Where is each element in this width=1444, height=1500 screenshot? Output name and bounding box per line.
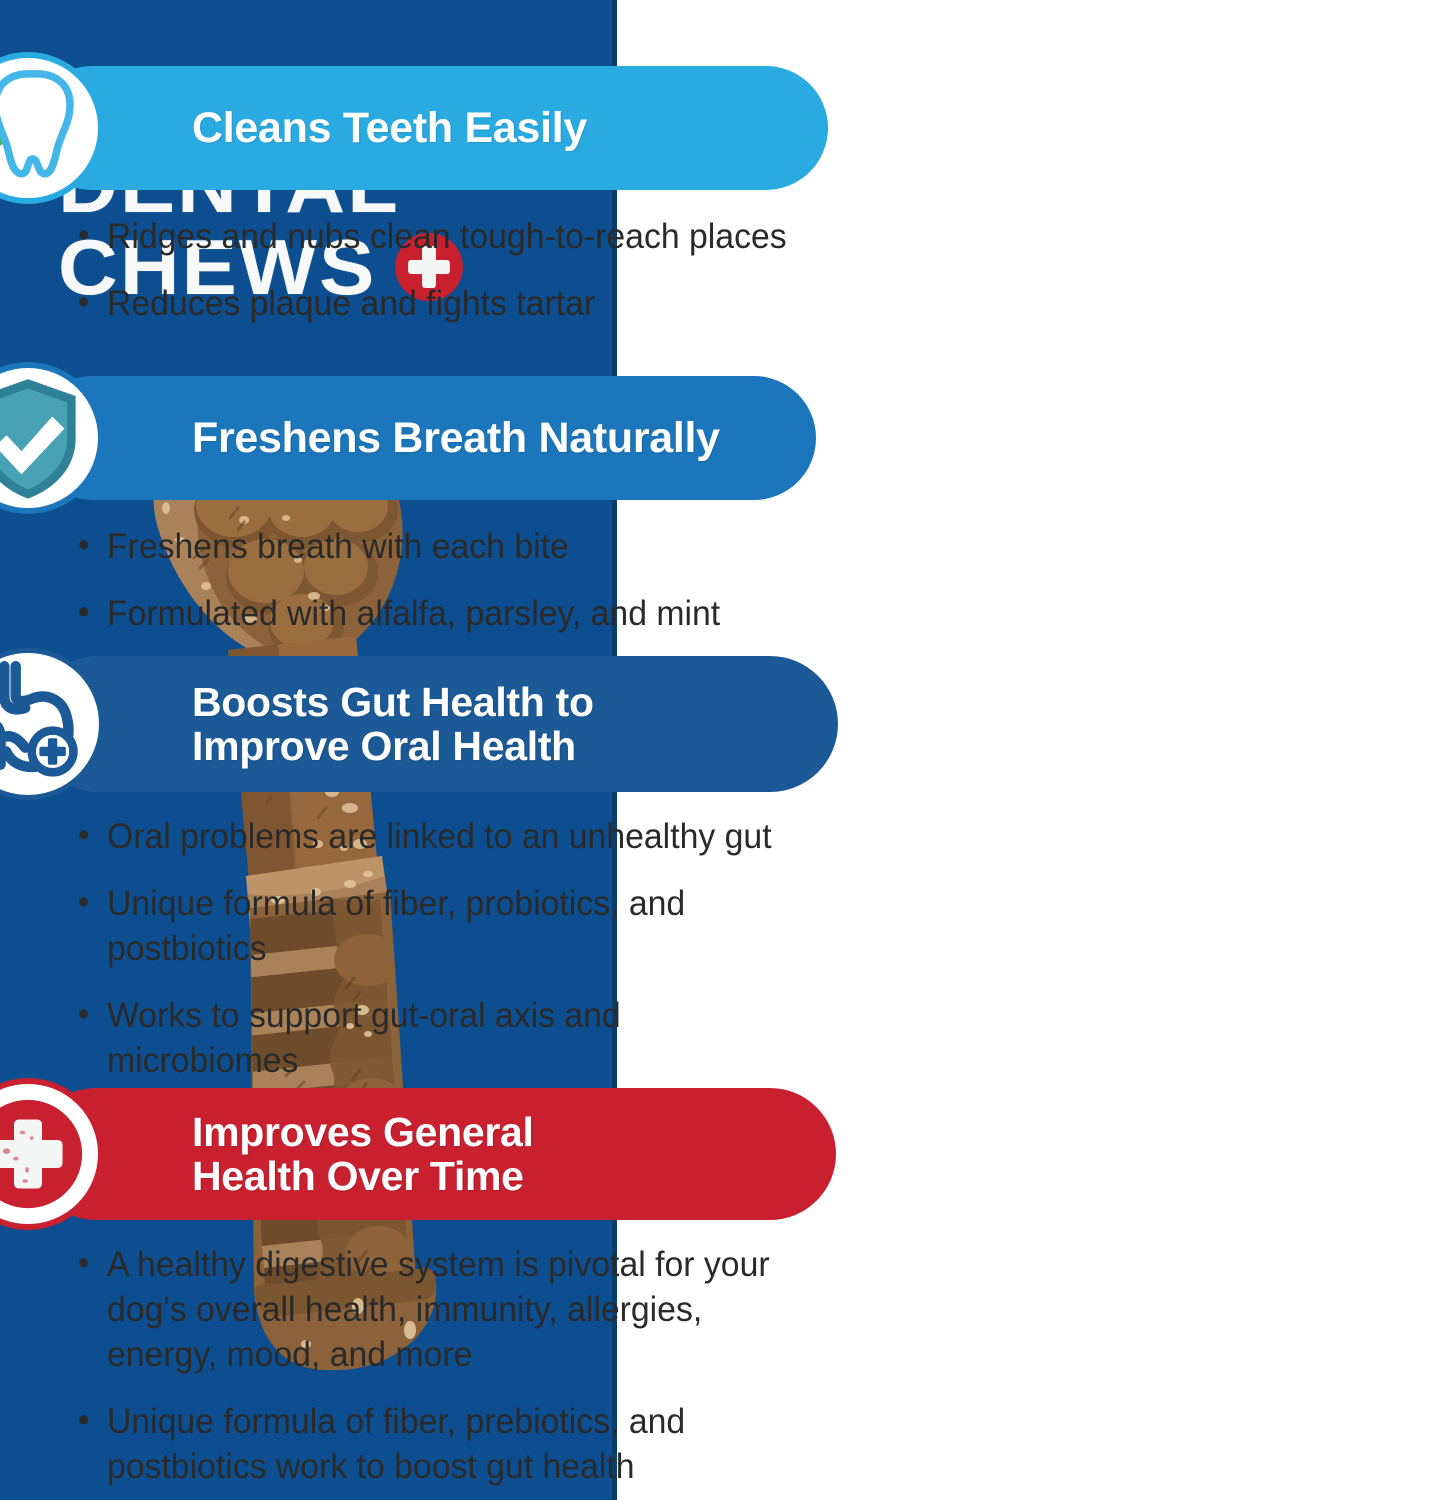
section-banner: Improves General Health Over Time (30, 1088, 836, 1220)
section-freshens-breath: Freshens Breath Naturally Freshens breat… (0, 376, 827, 656)
banner-title-line-1: Improves General (192, 1110, 534, 1154)
section-cleans-teeth: Cleans Teeth Easily Ridges and nubs clea… (0, 66, 827, 356)
section-improves-general-health: Improves General Health Over Time A heal… (0, 1088, 827, 1498)
banner-title-line-2: Health Over Time (192, 1154, 534, 1198)
bullet-list: A healthy digestive system is pivotal fo… (78, 1242, 838, 1500)
stomach-plus-icon (0, 648, 104, 800)
list-item: Freshens breath with each bite (78, 524, 811, 569)
bullet-list: Oral problems are linked to an unhealthy… (78, 814, 838, 1105)
infographic-page: DAILY DENTAL CHEWS (0, 0, 1444, 1500)
shield-check-icon (0, 362, 104, 514)
list-item: Reduces plaque and fights tartar (78, 281, 811, 326)
list-item: Ridges and nubs clean tough-to-reach pla… (78, 214, 811, 259)
bullet-list: Freshens breath with each bite Formulate… (78, 524, 838, 658)
list-item: Unique formula of fiber, prebiotics, and… (78, 1399, 811, 1489)
list-item: Works to support gut-oral axis and micro… (78, 993, 811, 1083)
medical-cross-circle-icon (0, 1078, 104, 1230)
banner-title: Boosts Gut Health to Improve Oral Health (192, 680, 594, 768)
banner-title: Cleans Teeth Easily (192, 105, 587, 151)
tooth-mint-leaf-icon (0, 52, 104, 204)
list-item: A healthy digestive system is pivotal fo… (78, 1242, 811, 1377)
section-banner: Boosts Gut Health to Improve Oral Health (30, 656, 838, 792)
banner-title: Improves General Health Over Time (192, 1110, 534, 1198)
banner-title-line-1: Boosts Gut Health to (192, 680, 594, 724)
list-item: Unique formula of fiber, probiotics, and… (78, 881, 811, 971)
section-banner: Cleans Teeth Easily (30, 66, 828, 190)
banner-title-line-2: Improve Oral Health (192, 724, 594, 768)
list-item: Oral problems are linked to an unhealthy… (78, 814, 811, 859)
list-item: Formulated with alfalfa, parsley, and mi… (78, 591, 811, 636)
section-boosts-gut-health: Boosts Gut Health to Improve Oral Health… (0, 656, 827, 1086)
bullet-list: Ridges and nubs clean tough-to-reach pla… (78, 214, 838, 348)
section-banner: Freshens Breath Naturally (30, 376, 816, 500)
banner-title: Freshens Breath Naturally (192, 415, 720, 461)
